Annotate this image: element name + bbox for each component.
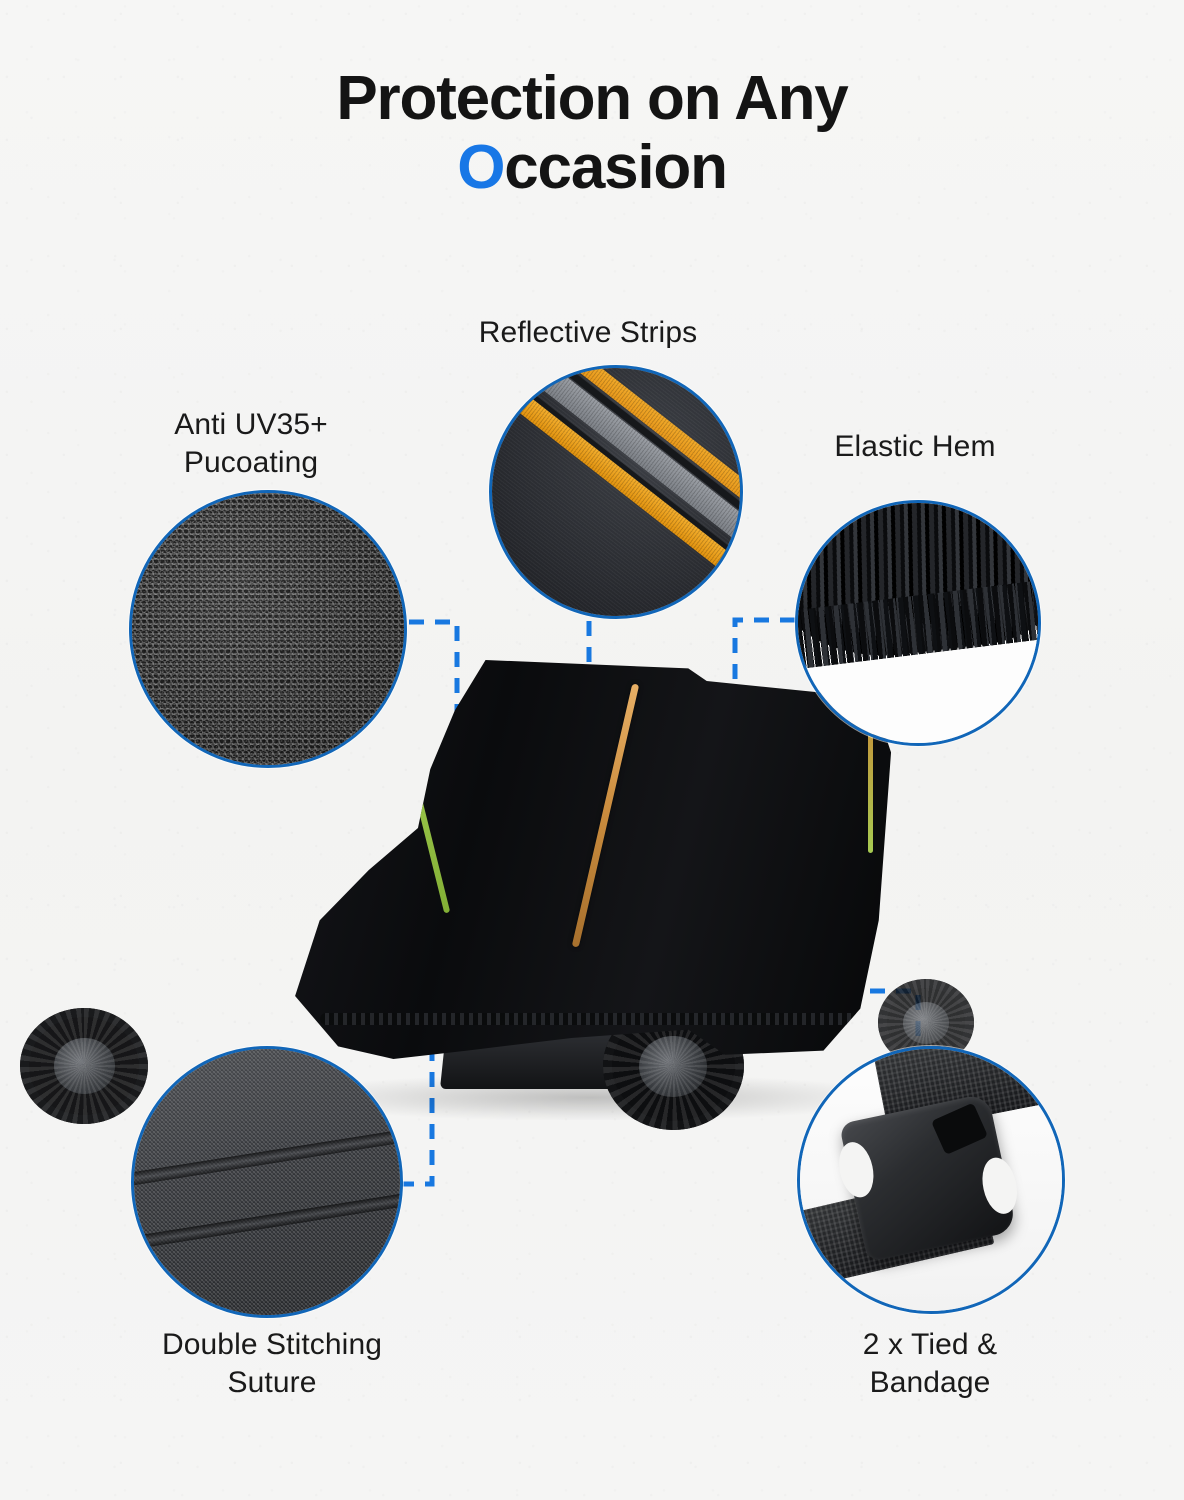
- feature-label-elastic-hem: Elastic Hem: [790, 428, 1040, 466]
- fabric-texture-icon: [129, 490, 407, 768]
- feature-label-double-stitching: Double Stitching Suture: [82, 1326, 462, 1403]
- feature-label-reflective-strips: Reflective Strips: [395, 314, 781, 352]
- buckle-strap-icon: [800, 1049, 1062, 1311]
- page-title-accent-letter: O: [457, 133, 504, 202]
- utv-rear-wheel: [20, 1008, 148, 1124]
- page-title-line2-rest: ccasion: [504, 133, 727, 202]
- buckle-strap-slot: [932, 1103, 989, 1155]
- elastic-band-icon: [798, 503, 1038, 743]
- detail-bubble-double-stitching: [131, 1046, 403, 1318]
- utv-front-rim: [639, 1036, 707, 1097]
- infographic-page: Protection on Any Occasion: [0, 0, 1184, 1500]
- elastic-hem-gathered-band: [795, 500, 1041, 670]
- utv-far-rim: [903, 1002, 949, 1044]
- elastic-hem-ruffle-edge: [795, 576, 1041, 672]
- utv-rear-rim: [54, 1038, 115, 1094]
- cover-gold-seam: [572, 684, 640, 948]
- page-title-line1: Protection on Any: [336, 64, 847, 133]
- stitch-seam-lower: [131, 1188, 403, 1255]
- detail-bubble-elastic-hem: [795, 500, 1041, 746]
- stitch-seam-upper: [131, 1125, 403, 1192]
- page-title: Protection on Any Occasion: [0, 64, 1184, 203]
- detail-bubble-anti-uv: [129, 490, 407, 768]
- detail-bubble-tied-bandage: [797, 1046, 1065, 1314]
- cover-bottom-hem: [320, 1013, 861, 1025]
- reflective-strip-icon: [489, 365, 743, 619]
- seam-stitch-icon: [131, 1046, 403, 1318]
- buckle-release-notch-right: [978, 1154, 1022, 1216]
- feature-label-anti-uv: Anti UV35+ Pucoating: [96, 406, 406, 483]
- feature-label-tied-bandage: 2 x Tied & Bandage: [790, 1326, 1070, 1403]
- buckle-release-notch-left: [835, 1138, 879, 1200]
- detail-bubble-reflective-strips: [489, 365, 743, 619]
- page-title-line2: Occasion: [0, 133, 1184, 202]
